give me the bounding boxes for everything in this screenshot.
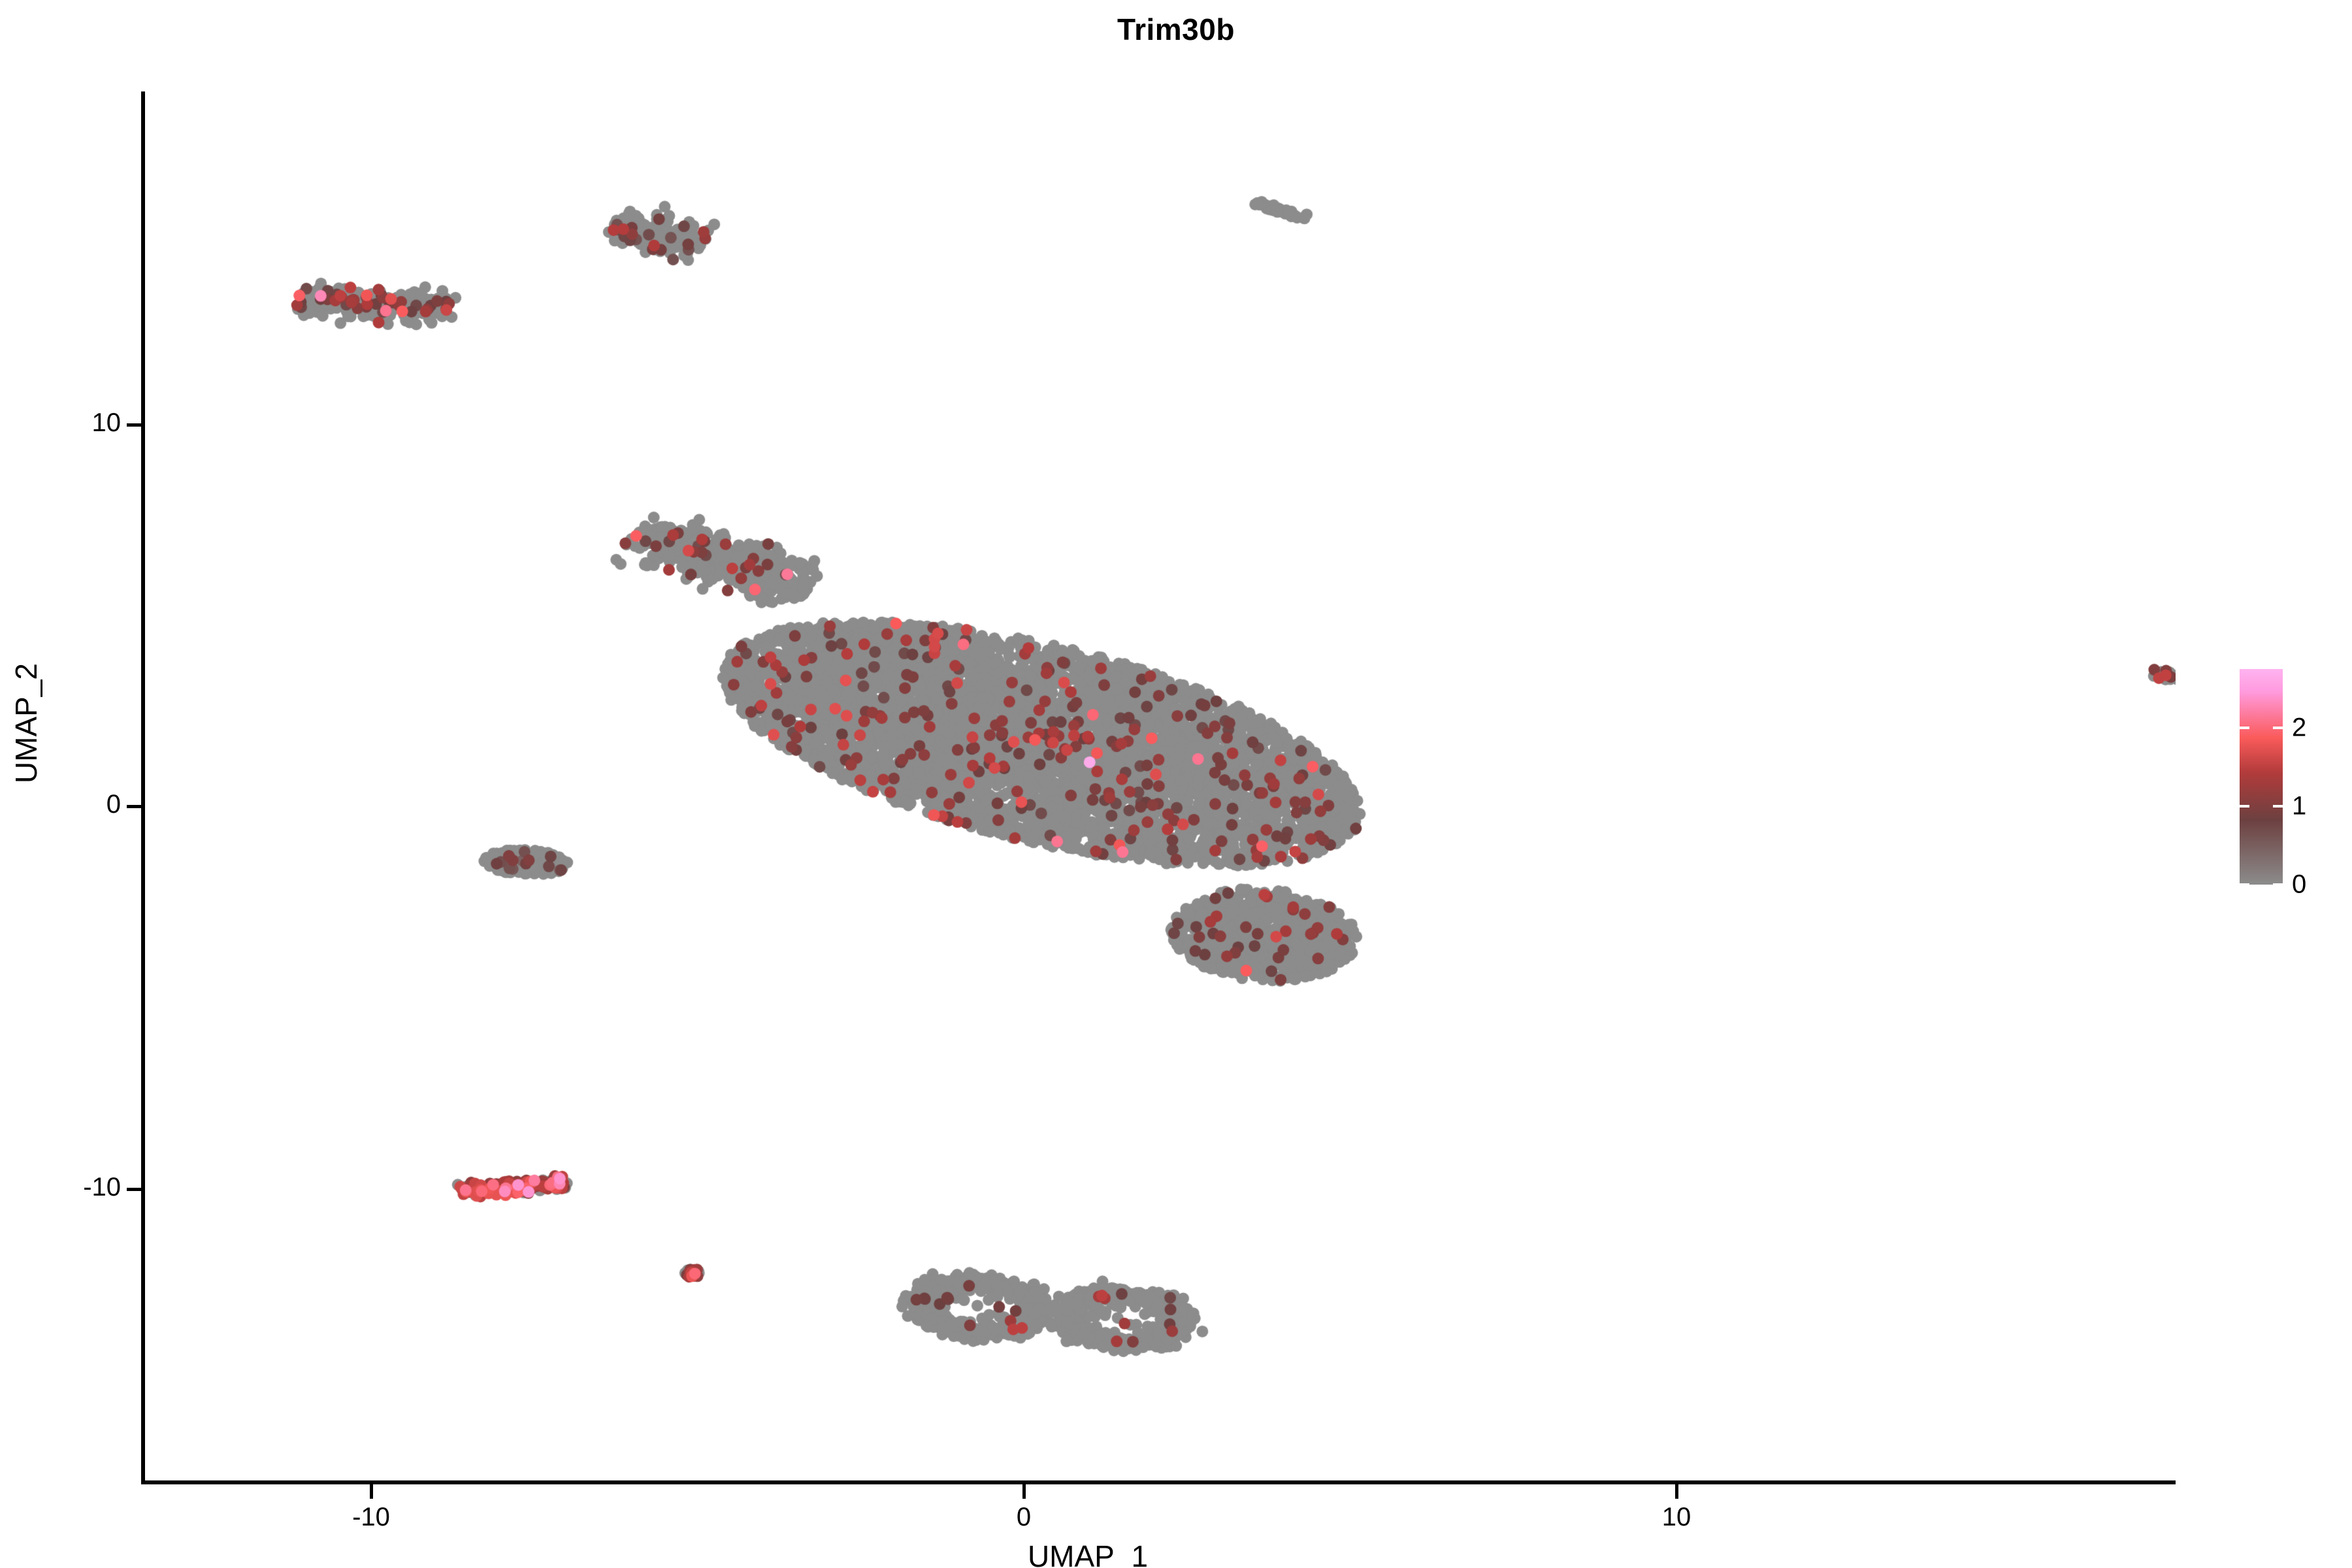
y-axis-tick-10 — [127, 423, 141, 427]
plot-panel — [144, 91, 2176, 1483]
colorbar-tick-0-left — [2240, 883, 2249, 886]
y-axis-ticklabel-neg10: -10 — [83, 1173, 121, 1202]
x-axis-ticklabel-10: 10 — [1662, 1503, 1691, 1532]
colorbar-tick-2-left — [2240, 727, 2249, 729]
x-axis-tick-neg10 — [370, 1484, 373, 1499]
page-title: Trim30b — [0, 12, 2352, 47]
x-axis-ticklabel-0: 0 — [1017, 1503, 1031, 1532]
colorbar-tick-1-left — [2240, 805, 2249, 808]
colorbar-tick-2-right — [2273, 727, 2283, 729]
scatter-points-layer — [144, 91, 2176, 1483]
y-axis-tick-neg10 — [127, 1188, 141, 1191]
y-axis-line — [141, 91, 145, 1484]
colorbar-label-1: 1 — [2292, 792, 2306, 821]
x-axis-title: UMAP_1 — [0, 1539, 2176, 1568]
colorbar-label-0: 0 — [2292, 870, 2306, 900]
x-axis-line — [141, 1480, 2176, 1484]
y-axis-tick-0 — [127, 805, 141, 808]
y-axis-ticklabel-10: 10 — [92, 408, 122, 438]
colorbar-label-2: 2 — [2292, 713, 2306, 743]
x-axis-tick-10 — [1675, 1484, 1678, 1499]
y-axis-title: UMAP_2 — [8, 397, 44, 1050]
colorbar-legend: 2 1 0 — [2240, 669, 2283, 885]
x-axis-ticklabel-neg10: -10 — [352, 1503, 390, 1532]
umap-plot-figure: Trim30b 10 0 -10 -10 0 10 UMAP_1 UMAP_2 … — [0, 0, 2352, 1568]
colorbar-tick-0-right — [2273, 883, 2283, 886]
x-axis-tick-0 — [1022, 1484, 1026, 1499]
colorbar-tick-1-right — [2273, 805, 2283, 808]
colorbar-gradient — [2240, 669, 2283, 885]
y-axis-ticklabel-0: 0 — [106, 790, 121, 819]
